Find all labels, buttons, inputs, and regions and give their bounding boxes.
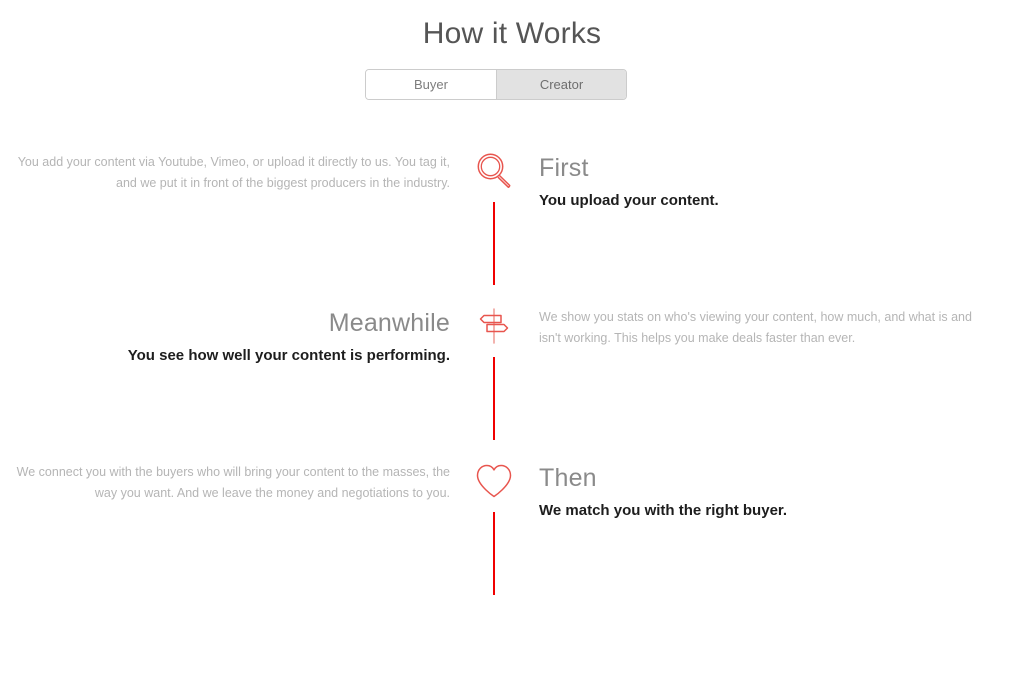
how-it-works-timeline: You add your content via Youtube, Vimeo,…: [0, 140, 1024, 605]
step-meanwhile-description-block: We show you stats on who's viewing your …: [539, 307, 991, 349]
timeline-step-then: We connect you with the buyers who will …: [0, 450, 1024, 605]
step-then-description-block: We connect you with the buyers who will …: [10, 462, 450, 504]
timeline-step-first: You add your content via Youtube, Vimeo,…: [0, 140, 1024, 295]
step-then-description: We connect you with the buyers who will …: [10, 462, 450, 504]
signpost-icon: [471, 303, 517, 349]
step-then-text-block: Then We match you with the right buyer.: [539, 462, 991, 522]
step-first-heading: First: [539, 152, 991, 184]
timeline-connector: [493, 202, 495, 285]
audience-toggle: Buyer Creator: [365, 69, 627, 100]
step-first-description-block: You add your content via Youtube, Vimeo,…: [10, 152, 450, 194]
magnifier-icon: [471, 148, 517, 194]
step-first-description: You add your content via Youtube, Vimeo,…: [10, 152, 450, 194]
timeline-connector: [493, 512, 495, 595]
step-then-heading: Then: [539, 462, 991, 494]
toggle-option-buyer[interactable]: Buyer: [366, 70, 496, 99]
step-meanwhile-description: We show you stats on who's viewing your …: [539, 307, 991, 349]
step-first-text-block: First You upload your content.: [539, 152, 991, 212]
toggle-option-creator[interactable]: Creator: [496, 70, 626, 99]
page-title: How it Works: [0, 14, 1024, 54]
step-meanwhile-heading: Meanwhile: [10, 307, 450, 339]
step-meanwhile-subheading: You see how well your content is perform…: [10, 345, 450, 367]
step-first-subheading: You upload your content.: [539, 190, 991, 212]
heart-icon: [471, 458, 517, 504]
timeline-step-meanwhile: Meanwhile You see how well your content …: [0, 295, 1024, 450]
step-meanwhile-text-block: Meanwhile You see how well your content …: [10, 307, 450, 367]
timeline-connector: [493, 357, 495, 440]
step-then-subheading: We match you with the right buyer.: [539, 500, 991, 522]
